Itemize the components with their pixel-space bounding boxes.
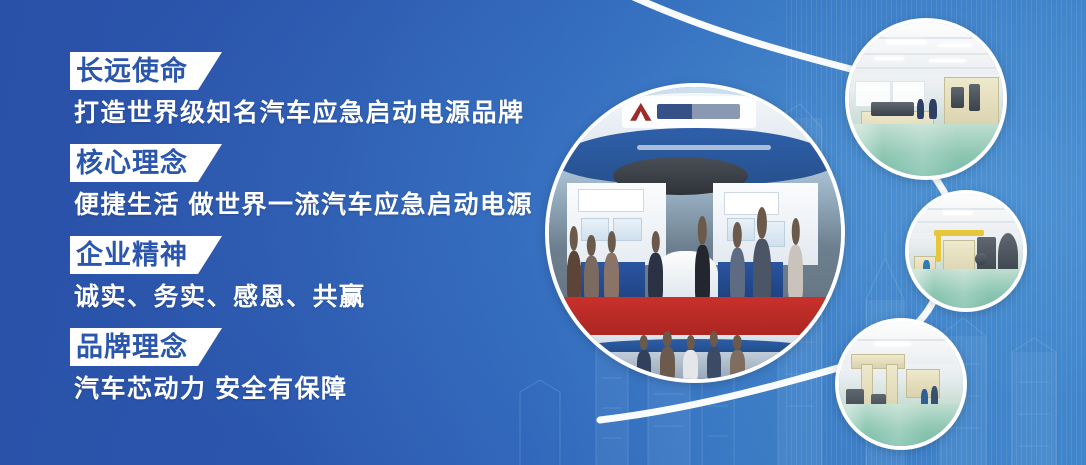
photo-circle-exhibition-booth[interactable] [545, 83, 845, 383]
production-line-3-image [839, 322, 963, 446]
brand-philosophy-statement: 汽车芯动力 安全有保障 [74, 372, 540, 406]
enterprise-spirit-statement: 诚实、务实、感恩、共赢 [74, 280, 540, 314]
photo-circle-production-line-2[interactable] [905, 190, 1027, 312]
photo-circle-production-line-1[interactable] [845, 18, 1007, 180]
company-culture-banner: 长远使命 打造世界级知名汽车应急启动电源品牌 核心理念 便捷生活 做世界一流汽车… [0, 0, 1086, 465]
production-line-2-image [909, 194, 1023, 308]
tag-core-philosophy: 核心理念 [70, 144, 222, 182]
tag-long-term-mission: 长远使命 [70, 52, 222, 90]
tag-label: 品牌理念 [76, 328, 188, 366]
culture-text-column: 长远使命 打造世界级知名汽车应急启动电源品牌 核心理念 便捷生活 做世界一流汽车… [70, 52, 540, 420]
tag-label: 核心理念 [76, 144, 188, 182]
tag-label: 企业精神 [76, 236, 188, 274]
exhibition-booth-image [549, 87, 841, 379]
photo-circle-production-line-3[interactable] [835, 318, 967, 450]
tag-brand-philosophy: 品牌理念 [70, 328, 222, 366]
mission-statement: 打造世界级知名汽车应急启动电源品牌 [74, 96, 540, 130]
core-philosophy-statement: 便捷生活 做世界一流汽车应急启动电源 [74, 188, 540, 222]
tag-label: 长远使命 [76, 52, 188, 90]
tag-enterprise-spirit: 企业精神 [70, 236, 222, 274]
production-line-1-image [849, 22, 1003, 176]
